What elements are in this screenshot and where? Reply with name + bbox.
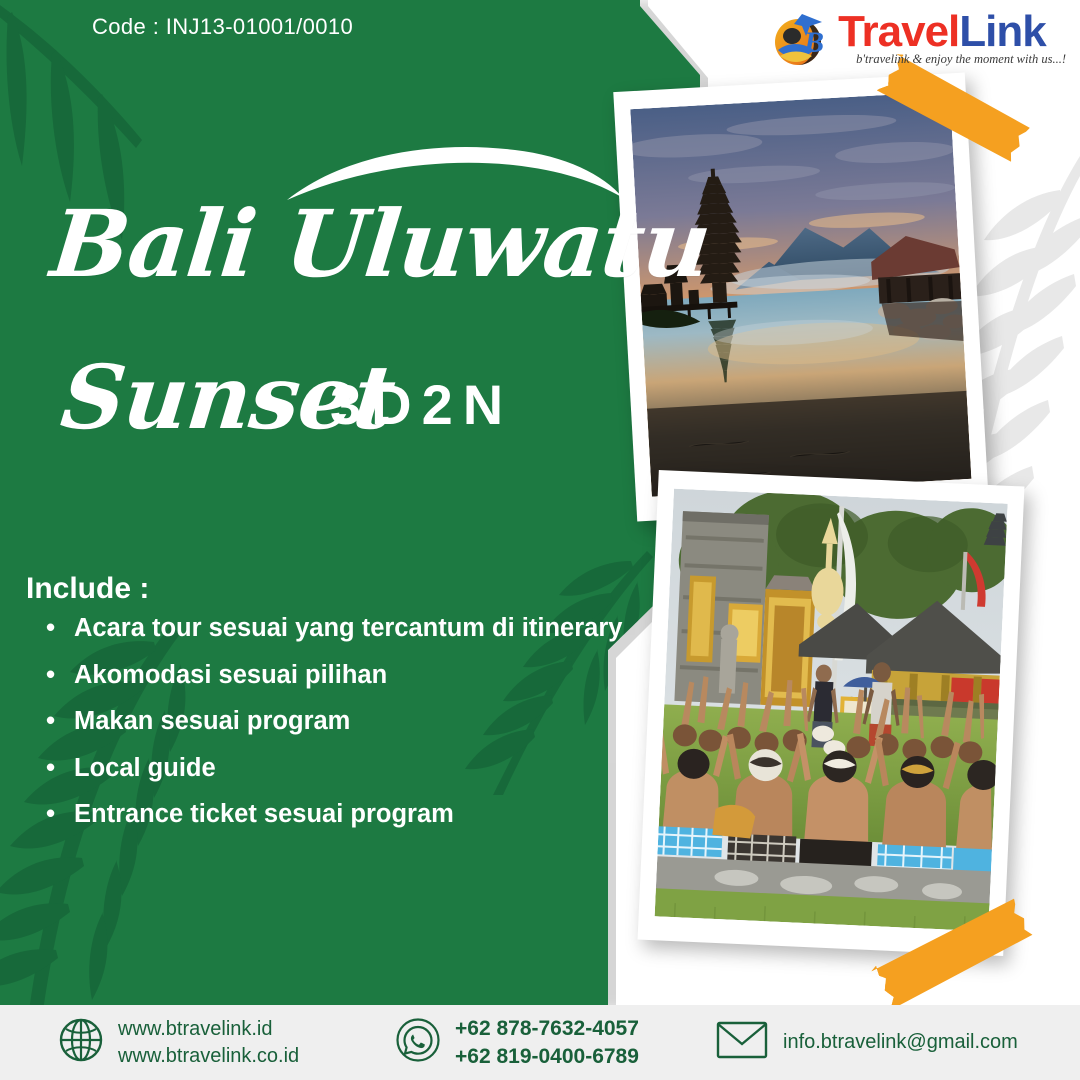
logo-wordmark: TravelLink bbox=[838, 11, 1046, 53]
list-item: Acara tour sesuai yang tercantum di itin… bbox=[44, 616, 644, 642]
list-item: Makan sesuai program bbox=[44, 709, 644, 735]
include-heading: Include : bbox=[26, 572, 149, 606]
list-item: Entrance ticket sesuai program bbox=[44, 802, 644, 828]
website-line-2[interactable]: www.btravelink.co.id bbox=[118, 1043, 299, 1069]
package-title-line1: Bali Uluwatu bbox=[46, 190, 715, 298]
list-item: Akomodasi sesuai pilihan bbox=[44, 663, 644, 689]
brand-logo[interactable]: B TravelLink b'travelink & enjoy the mom… bbox=[768, 6, 1066, 70]
globe-icon bbox=[58, 1017, 104, 1068]
email-line-1[interactable]: info.btravelink@gmail.com bbox=[783, 1029, 1018, 1055]
whatsapp-icon bbox=[395, 1017, 441, 1068]
flyer-canvas: Code : INJ13-01001/0010 Bali Uluwatu Sun… bbox=[0, 0, 1080, 1080]
svg-text:B: B bbox=[803, 26, 824, 59]
package-duration: 3D2N bbox=[330, 372, 513, 437]
footer-email-group[interactable]: info.btravelink@gmail.com bbox=[715, 1018, 1018, 1067]
globe-airplane-b-icon: B bbox=[768, 6, 832, 70]
envelope-icon bbox=[715, 1018, 769, 1067]
list-item: Local guide bbox=[44, 756, 644, 782]
footer-website-group[interactable]: www.btravelink.id www.btravelink.co.id bbox=[58, 1016, 299, 1069]
website-line-1[interactable]: www.btravelink.id bbox=[118, 1016, 299, 1042]
footer-whatsapp-group[interactable]: +62 878-7632-4057 +62 819-0400-6789 bbox=[395, 1015, 639, 1070]
logo-word-link: Link bbox=[959, 7, 1045, 56]
whatsapp-line-2[interactable]: +62 819-0400-6789 bbox=[455, 1043, 639, 1071]
include-list: Acara tour sesuai yang tercantum di itin… bbox=[44, 616, 644, 849]
logo-word-travel: Travel bbox=[838, 7, 959, 56]
package-code: Code : INJ13-01001/0010 bbox=[92, 14, 353, 40]
photo-kecak-dance bbox=[638, 470, 1025, 956]
logo-tagline: b'travelink & enjoy the moment with us..… bbox=[856, 52, 1066, 67]
whatsapp-line-1[interactable]: +62 878-7632-4057 bbox=[455, 1015, 639, 1043]
footer-contact-bar: www.btravelink.id www.btravelink.co.id +… bbox=[0, 1005, 1080, 1080]
